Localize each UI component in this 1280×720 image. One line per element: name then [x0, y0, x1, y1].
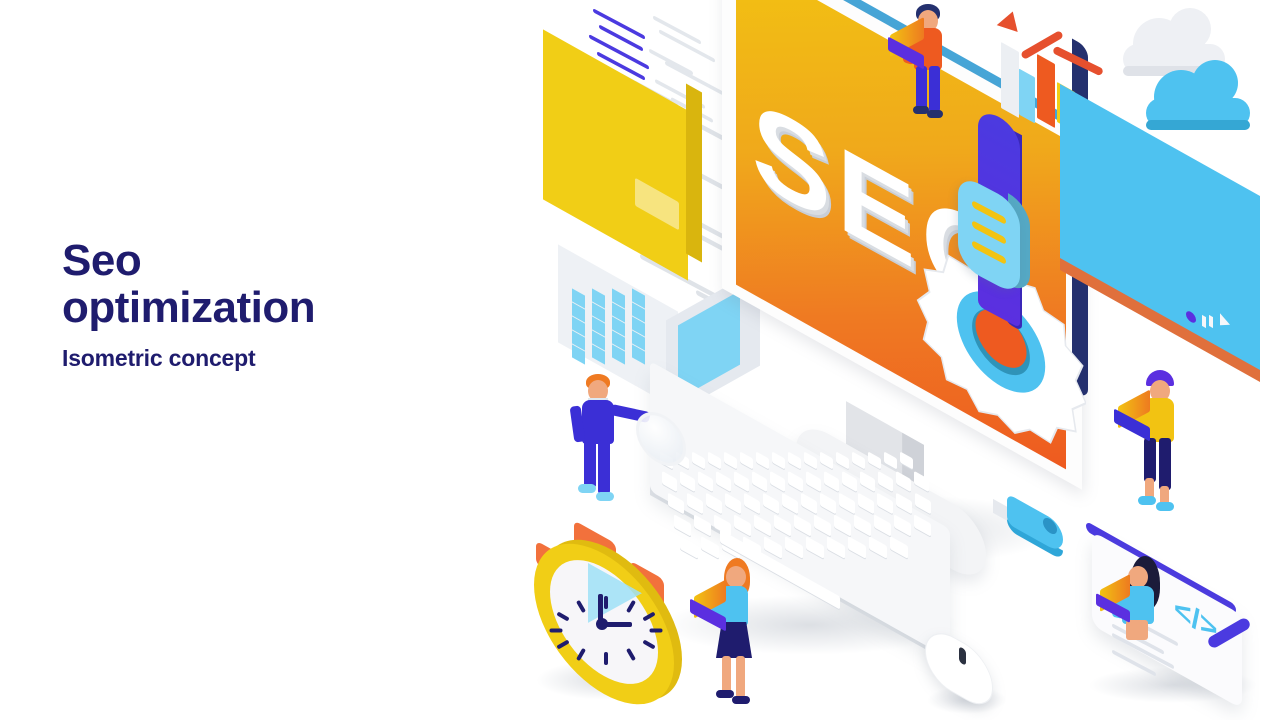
person-leg-right — [598, 440, 610, 494]
cloud-blue-icon — [1140, 58, 1260, 136]
person-leg-right — [1159, 438, 1171, 490]
keyboard-key[interactable] — [852, 451, 865, 469]
person-head — [726, 566, 746, 588]
person-near-keyboard — [702, 558, 782, 708]
person-leg-left — [584, 440, 596, 488]
clock-tick — [604, 596, 608, 609]
keyboard-key[interactable] — [914, 471, 929, 492]
person-leg-left — [916, 66, 927, 110]
chart-arrow-head — [997, 8, 1023, 32]
chart-bar-2 — [1019, 69, 1035, 124]
keyboard-key[interactable] — [701, 536, 719, 559]
pen-badge — [972, 117, 1024, 327]
person-leg — [1126, 620, 1148, 640]
usb-drive — [995, 505, 1075, 565]
chart-arrow-seg-1 — [1052, 46, 1104, 77]
pause-icon-bar2[interactable] — [1209, 315, 1213, 328]
keyboard-key[interactable] — [868, 451, 881, 469]
person-on-monitor — [892, 2, 962, 120]
clock-tick — [604, 652, 608, 665]
person-shoe-right — [596, 492, 614, 501]
pause-icon[interactable] — [1202, 315, 1206, 328]
keyboard-key[interactable] — [900, 451, 913, 469]
keyboard-key[interactable] — [896, 471, 911, 492]
clock-tick — [550, 629, 563, 633]
chart-bar-1 — [1001, 42, 1019, 118]
person-shoe-right — [732, 696, 750, 704]
person-shoe-left — [716, 690, 734, 698]
person-with-cap — [1126, 370, 1216, 520]
person-with-magnifier — [566, 374, 666, 514]
person-shoe-left — [1138, 496, 1156, 505]
clock-center-pin — [596, 618, 608, 630]
video-player[interactable] — [1060, 140, 1280, 365]
chart-bar-3 — [1037, 54, 1055, 128]
person-on-code-card — [1110, 556, 1190, 666]
title-line-2: optimization — [62, 285, 492, 332]
illustration-canvas: Seo optimization Isometric concept — [0, 0, 1280, 720]
person-leg-right — [929, 66, 940, 112]
page-title: Seo optimization Isometric concept — [62, 238, 492, 372]
person-shoe-right — [927, 110, 943, 118]
keyboard-key[interactable] — [884, 451, 897, 469]
person-shoe-right — [1156, 502, 1174, 511]
keyboard-key[interactable] — [680, 536, 698, 559]
person-shoe-left — [578, 484, 596, 493]
mouse[interactable] — [925, 640, 1003, 706]
keyboard-key[interactable] — [674, 514, 691, 537]
folder-icon — [543, 70, 718, 280]
person-leg-right — [736, 656, 745, 698]
person-head — [1128, 566, 1148, 588]
person-leg-left — [722, 656, 731, 694]
title-line-1: Seo — [62, 238, 492, 285]
person-leg-left — [1144, 438, 1156, 482]
person-torso — [582, 400, 614, 444]
subtitle: Isometric concept — [62, 345, 492, 372]
